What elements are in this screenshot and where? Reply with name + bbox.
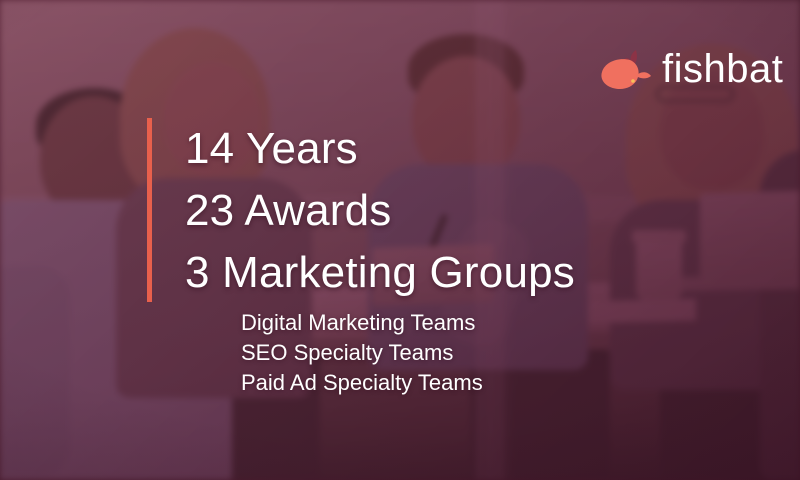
content-layer: 14 Years 23 Awards 3 Marketing Groups Di…: [0, 0, 800, 480]
headline-line-years: 14 Years: [185, 118, 800, 180]
headline-line-awards: 23 Awards: [185, 180, 800, 242]
headline-block: 14 Years 23 Awards 3 Marketing Groups: [185, 118, 800, 304]
sublist-item-paid-ad: Paid Ad Specialty Teams: [241, 368, 781, 398]
sublist-block: Digital Marketing Teams SEO Specialty Te…: [241, 308, 781, 398]
accent-bar: [147, 118, 152, 302]
fish-bat-icon: [600, 48, 656, 94]
banner-root: 14 Years 23 Awards 3 Marketing Groups Di…: [0, 0, 800, 480]
brand-logo: fishbat: [600, 44, 772, 98]
brand-wordmark: fishbat: [662, 42, 783, 96]
sublist-item-digital-marketing: Digital Marketing Teams: [241, 308, 781, 338]
sublist-item-seo: SEO Specialty Teams: [241, 338, 781, 368]
headline-line-groups: 3 Marketing Groups: [185, 242, 800, 304]
